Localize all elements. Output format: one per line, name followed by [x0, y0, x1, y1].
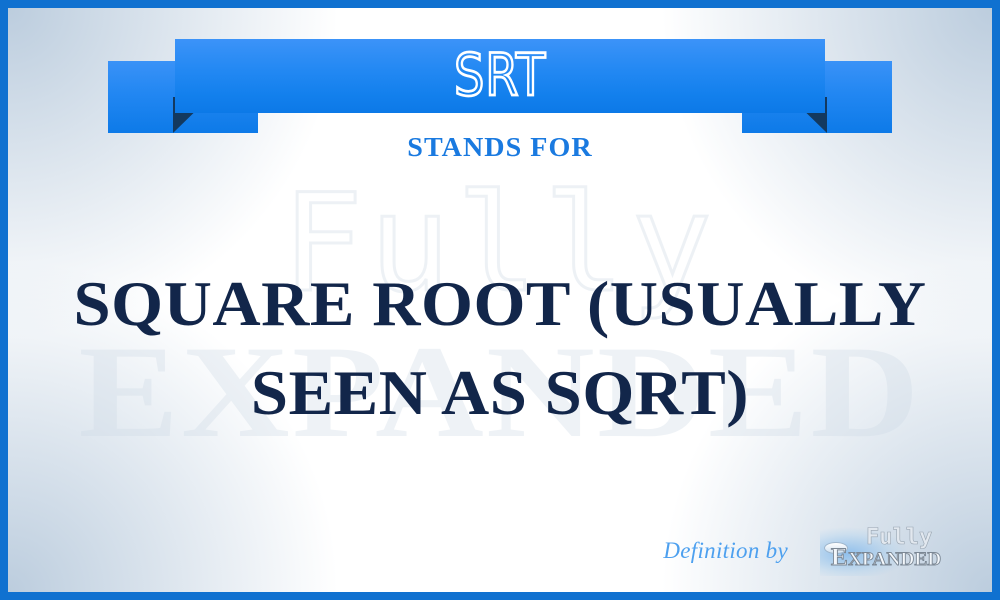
logo-expanded-text: EXPANDED [831, 545, 941, 570]
definition-by-label: Definition by [663, 538, 788, 564]
ribbon-band: SRT [175, 39, 825, 113]
footer: Definition by Fully EXPANDED [8, 522, 992, 580]
abbreviation-title: SRT [454, 47, 546, 105]
definition-text: SQUARE ROOT (USUALLY SEEN AS SQRT) [2, 260, 998, 439]
stands-for-label: STANDS FOR [0, 134, 1000, 161]
logo-expanded-rest: XPANDED [848, 549, 941, 570]
logo-expanded-initial: E [831, 544, 848, 571]
header-ribbon: SRT [8, 22, 992, 137]
definition-card: Fully EXPANDED SRT STANDS FOR SQUARE ROO… [0, 0, 1000, 600]
fullyexpanded-logo[interactable]: Fully EXPANDED [820, 526, 970, 576]
